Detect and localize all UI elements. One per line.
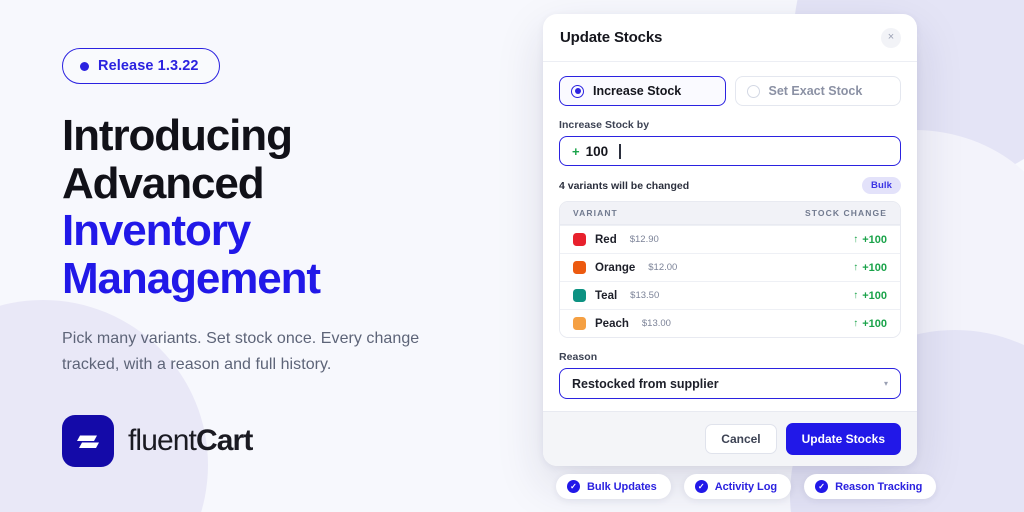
brand-word-bold: Cart <box>196 424 252 457</box>
color-swatch-icon <box>573 289 586 302</box>
mode-option-increase-stock[interactable]: Increase Stock <box>559 76 726 106</box>
feature-pill-activity-log[interactable]: ✓ Activity Log <box>684 474 791 499</box>
stock-change-value: +100 <box>862 234 887 246</box>
variant-cell: Teal $13.50 <box>573 289 659 302</box>
stock-change-cell: ↑ +100 <box>853 290 887 302</box>
plus-icon: + <box>572 144 580 159</box>
check-circle-icon: ✓ <box>695 480 708 493</box>
reason-selected-value: Restocked from supplier <box>572 377 719 391</box>
release-badge-label: Release 1.3.22 <box>98 58 199 74</box>
stock-mode-selector: Increase Stock Set Exact Stock <box>559 76 901 106</box>
feature-pill-bulk-updates[interactable]: ✓ Bulk Updates <box>556 474 671 499</box>
subcopy-line-2: tracked, with a reason and full history. <box>62 352 442 378</box>
variant-name: Teal <box>595 290 617 302</box>
reason-select[interactable]: Restocked from supplier ▾ <box>559 368 901 399</box>
stock-change-cell: ↑ +100 <box>853 234 887 246</box>
radio-selected-icon <box>571 85 584 98</box>
brand-logo: fluentCart <box>62 415 252 467</box>
stock-change-value: +100 <box>862 290 887 302</box>
color-swatch-icon <box>573 233 586 246</box>
variant-name: Orange <box>595 262 635 274</box>
headline-line-3: Management <box>62 255 502 303</box>
modal-footer: Cancel Update Stocks <box>543 411 917 466</box>
feature-pill-label: Bulk Updates <box>587 481 657 493</box>
feature-pill-row: ✓ Bulk Updates ✓ Activity Log ✓ Reason T… <box>556 474 936 499</box>
table-row[interactable]: Orange $12.00 ↑ +100 <box>560 253 900 281</box>
dot-icon <box>80 62 89 71</box>
stock-change-cell: ↑ +100 <box>853 318 887 330</box>
radio-unselected-icon <box>747 85 760 98</box>
text-cursor <box>619 144 620 159</box>
mode-option-set-exact-stock[interactable]: Set Exact Stock <box>735 76 902 106</box>
release-badge: Release 1.3.22 <box>62 48 220 84</box>
close-icon[interactable]: × <box>881 28 901 48</box>
brand-word-thin: fluent <box>128 424 196 457</box>
arrow-up-icon: ↑ <box>853 234 858 245</box>
arrow-up-icon: ↑ <box>853 318 858 329</box>
column-header-variant: VARIANT <box>573 208 618 218</box>
hero-subcopy: Pick many variants. Set stock once. Ever… <box>62 326 442 378</box>
stock-change-value: +100 <box>862 318 887 330</box>
modal-title: Update Stocks <box>560 29 662 46</box>
variant-name: Peach <box>595 318 629 330</box>
variant-price: $13.50 <box>630 290 659 301</box>
update-stocks-modal: Update Stocks × Increase Stock Set Exact… <box>543 14 917 466</box>
status-badge: Bulk <box>862 177 901 194</box>
mode-option-increase-stock-label: Increase Stock <box>593 84 681 98</box>
cancel-button[interactable]: Cancel <box>705 424 776 454</box>
subcopy-line-1: Pick many variants. Set stock once. Ever… <box>62 326 442 352</box>
modal-header: Update Stocks × <box>543 14 917 62</box>
increase-stock-value: 100 <box>586 144 609 159</box>
variants-summary-row: 4 variants will be changed Bulk <box>559 177 901 194</box>
feature-pill-label: Reason Tracking <box>835 481 922 493</box>
hero-section: Release 1.3.22 Introducing Advanced Inve… <box>62 48 502 378</box>
table-row[interactable]: Peach $13.00 ↑ +100 <box>560 309 900 337</box>
modal-body: Increase Stock Set Exact Stock Increase … <box>543 62 917 411</box>
mode-option-set-exact-stock-label: Set Exact Stock <box>769 84 863 98</box>
variant-cell: Red $12.90 <box>573 233 659 246</box>
reason-label: Reason <box>559 351 901 363</box>
variant-price: $12.00 <box>648 262 677 273</box>
table-row[interactable]: Teal $13.50 ↑ +100 <box>560 281 900 309</box>
fluentcart-logo-icon <box>62 415 114 467</box>
feature-pill-reason-tracking[interactable]: ✓ Reason Tracking <box>804 474 936 499</box>
column-header-stock-change: STOCK CHANGE <box>805 208 887 218</box>
update-stocks-button[interactable]: Update Stocks <box>786 423 901 455</box>
variants-table: VARIANT STOCK CHANGE Red $12.90 ↑ +100 O… <box>559 201 901 338</box>
variant-cell: Orange $12.00 <box>573 261 677 274</box>
increase-stock-input[interactable]: + 100 <box>559 136 901 166</box>
headline-line-2: Inventory <box>62 207 502 255</box>
color-swatch-icon <box>573 317 586 330</box>
check-circle-icon: ✓ <box>567 480 580 493</box>
table-header-row: VARIANT STOCK CHANGE <box>560 202 900 225</box>
stock-change-cell: ↑ +100 <box>853 262 887 274</box>
color-swatch-icon <box>573 261 586 274</box>
variant-name: Red <box>595 234 617 246</box>
arrow-up-icon: ↑ <box>853 262 858 273</box>
variants-count-text: 4 variants will be changed <box>559 180 689 192</box>
stock-change-value: +100 <box>862 262 887 274</box>
check-circle-icon: ✓ <box>815 480 828 493</box>
variant-price: $13.00 <box>642 318 671 329</box>
headline-line-1: Introducing Advanced <box>62 112 502 207</box>
brand-wordmark: fluentCart <box>128 424 252 458</box>
table-row[interactable]: Red $12.90 ↑ +100 <box>560 225 900 253</box>
feature-pill-label: Activity Log <box>715 481 777 493</box>
arrow-up-icon: ↑ <box>853 290 858 301</box>
page-title: Introducing Advanced Inventory Managemen… <box>62 112 502 302</box>
chevron-down-icon: ▾ <box>884 379 888 388</box>
variant-cell: Peach $13.00 <box>573 317 671 330</box>
increase-stock-by-label: Increase Stock by <box>559 119 901 131</box>
variant-price: $12.90 <box>630 234 659 245</box>
